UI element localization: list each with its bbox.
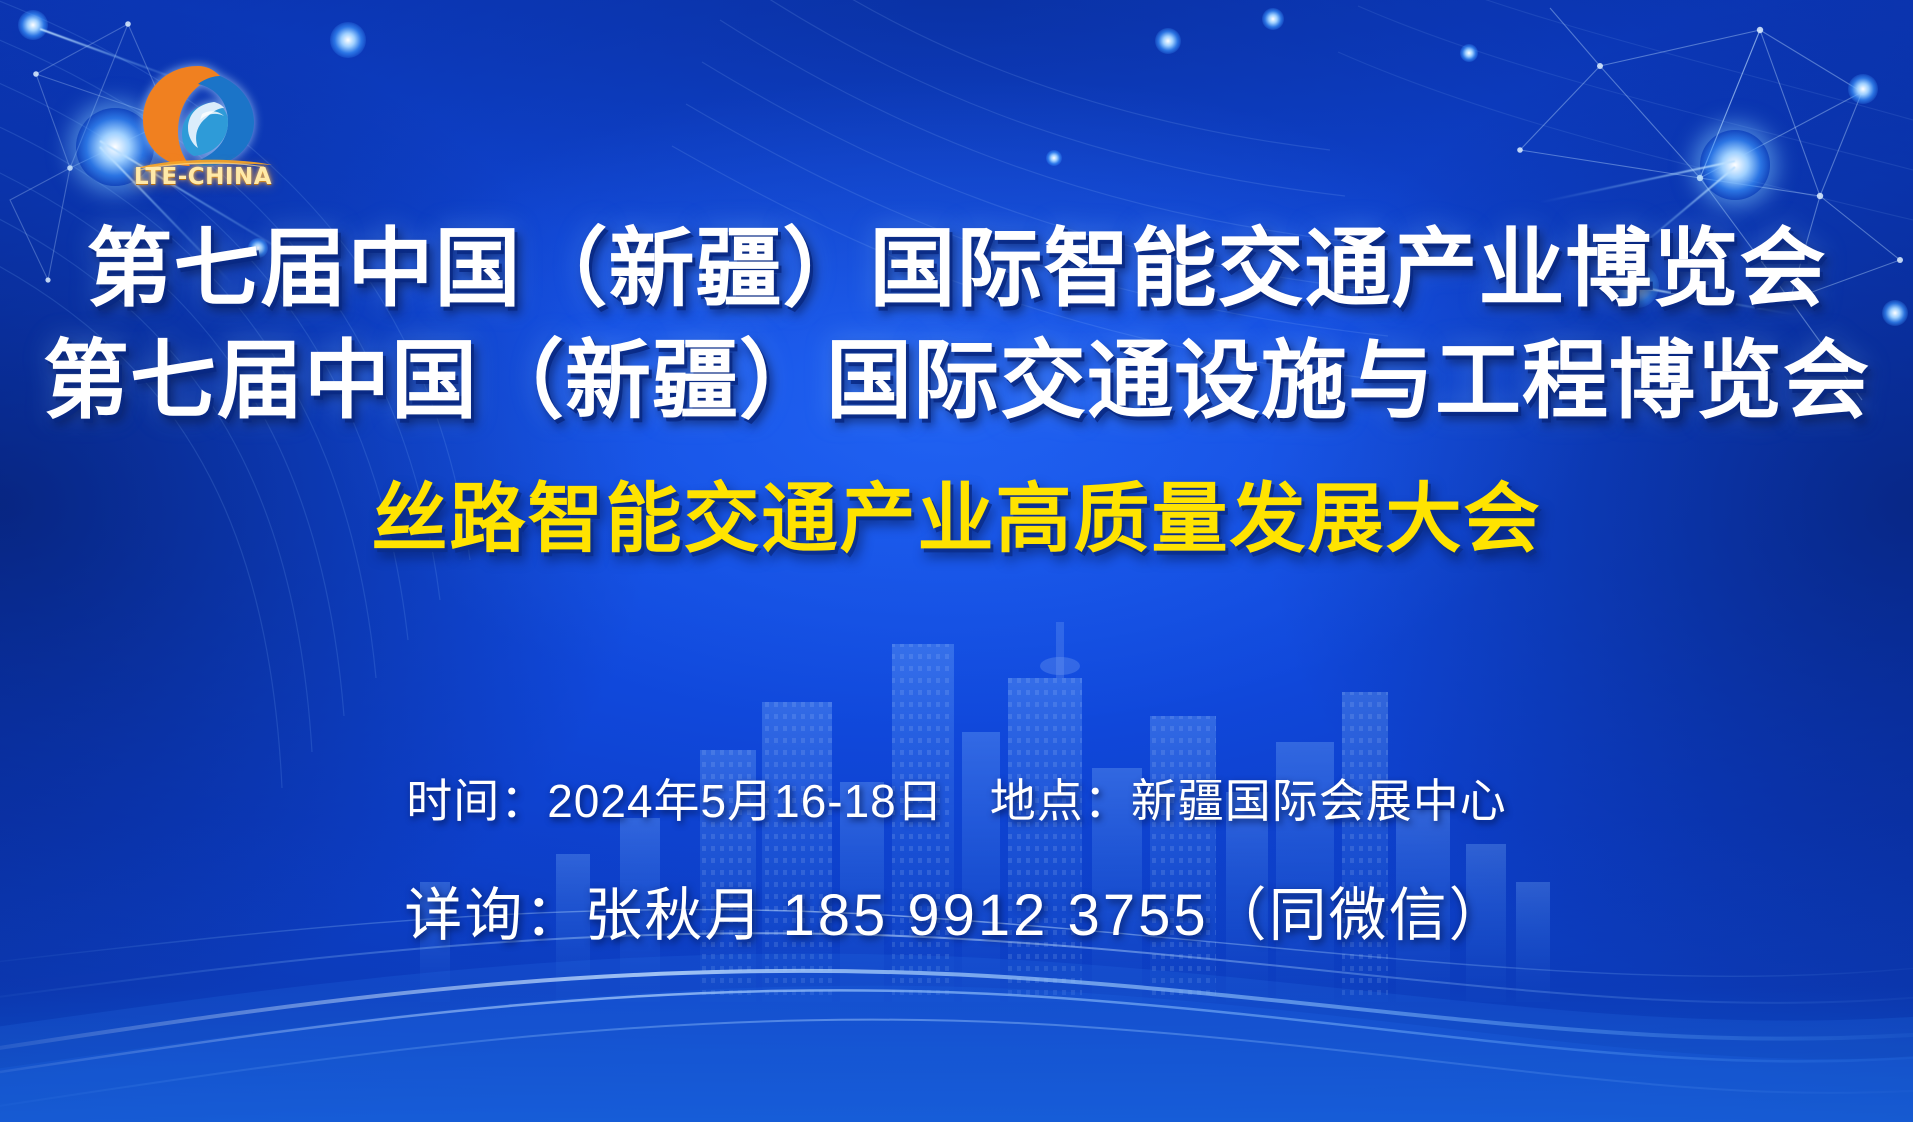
subtitle: 丝路智能交通产业高质量发展大会 — [0, 482, 1913, 558]
time-label: 时间： — [406, 775, 547, 827]
contact-line: 详询：张秋月 185 9912 3755（同微信） — [0, 868, 1913, 952]
contact-label: 详询： — [404, 883, 584, 948]
venue-label: 地点： — [990, 775, 1131, 827]
background-bottom-glow — [0, 822, 1913, 1122]
title-line-1: 第七届中国（新疆）国际智能交通产业博览会 — [0, 226, 1913, 312]
contact-name: 张秋月 — [584, 883, 764, 948]
expo-poster: LTE-CHINA 第七届中国（新疆）国际智能交通产业博览会 第七届中国（新疆）… — [0, 0, 1913, 1122]
time-value: 2024年5月16-18日 — [547, 775, 944, 827]
contact-note: （同微信） — [1209, 883, 1509, 948]
logo: LTE-CHINA — [128, 60, 278, 205]
venue-value: 新疆国际会展中心 — [1131, 775, 1507, 827]
contact-phone: 185 9912 3755 — [783, 883, 1209, 948]
contact-separator — [764, 883, 782, 948]
event-info-line: 时间：2024年5月16-18日地点：新疆国际会展中心 — [0, 765, 1913, 831]
logo-wordmark: LTE-CHINA — [128, 164, 278, 190]
title-line-2: 第七届中国（新疆）国际交通设施与工程博览会 — [0, 338, 1913, 424]
